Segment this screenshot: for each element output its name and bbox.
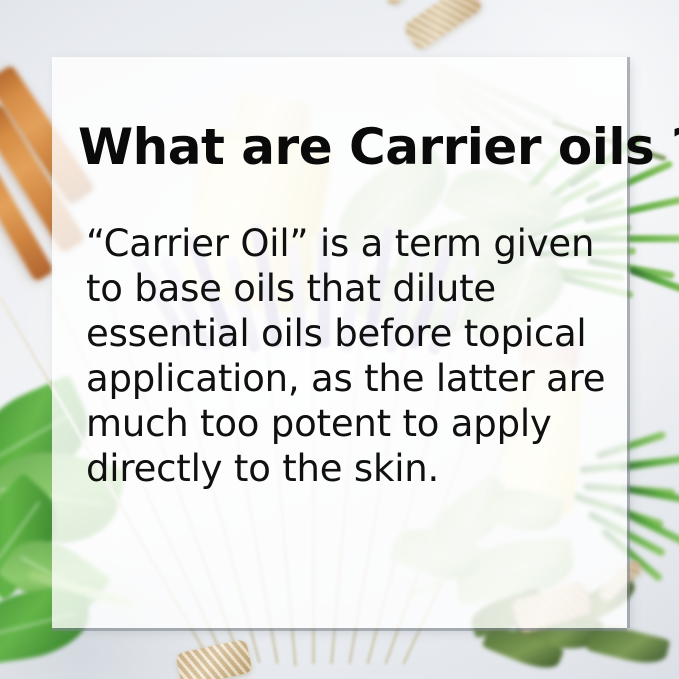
body-line: application, as the latter are bbox=[86, 356, 618, 401]
twine-knot-icon bbox=[402, 0, 483, 51]
body-line: to base oils that dilute bbox=[86, 266, 618, 311]
page-title: What are Carrier oils ? bbox=[78, 118, 618, 176]
body-line: “Carrier Oil” is a term given bbox=[86, 221, 618, 266]
body-paragraph: “Carrier Oil” is a term given to base oi… bbox=[78, 176, 618, 491]
text-block: What are Carrier oils ? “Carrier Oil” is… bbox=[78, 118, 618, 491]
body-line: much too potent to apply bbox=[86, 401, 618, 446]
twine-tail-icon bbox=[384, 0, 423, 7]
infographic-canvas: What are Carrier oils ? “Carrier Oil” is… bbox=[0, 0, 679, 679]
body-line: directly to the skin. bbox=[86, 446, 618, 491]
body-line: essential oils before topical bbox=[86, 311, 618, 356]
